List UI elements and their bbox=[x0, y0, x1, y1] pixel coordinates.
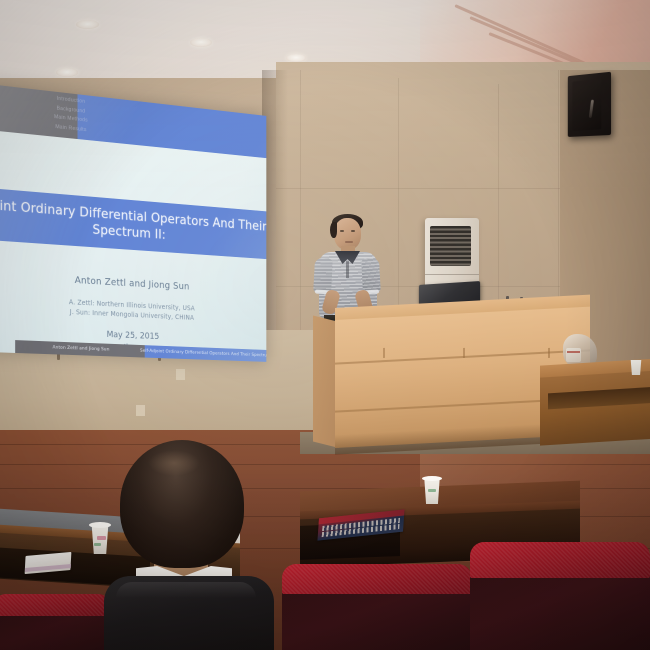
slide-title-band: djoint Ordinary Differential Operators A… bbox=[0, 187, 266, 260]
chair-right[interactable] bbox=[470, 536, 650, 650]
slide-footer-left-text: Anton Zettl and Jiong Sun bbox=[53, 345, 110, 352]
wall-speaker bbox=[568, 72, 611, 137]
wall-plate bbox=[176, 369, 185, 380]
ac-seam bbox=[425, 274, 479, 275]
slide-affiliations: A. Zettl: Northern Illinois University, … bbox=[0, 294, 266, 326]
slide-body: djoint Ordinary Differential Operators A… bbox=[0, 130, 266, 362]
podium-seam bbox=[548, 348, 550, 358]
slide-title: djoint Ordinary Differential Operators A… bbox=[0, 196, 266, 251]
speaker-face bbox=[572, 79, 601, 131]
presenter-placket bbox=[346, 261, 349, 278]
chair-left[interactable] bbox=[0, 590, 112, 650]
chair-right-trim bbox=[470, 542, 650, 578]
audience-hair-highlight bbox=[148, 450, 200, 476]
presenter-mouth bbox=[345, 241, 353, 243]
slide-footer-right-text: Self-Adjoint Ordinary Differential Opera… bbox=[140, 349, 266, 359]
wall-plate bbox=[136, 405, 145, 416]
ceiling-downlight bbox=[76, 20, 99, 29]
chair-left-trim bbox=[0, 594, 112, 616]
podium-seam bbox=[463, 348, 465, 358]
chair-center-trim bbox=[282, 564, 472, 594]
ceiling-downlight bbox=[286, 54, 306, 62]
chair-center[interactable] bbox=[282, 556, 472, 650]
ac-grille bbox=[430, 226, 471, 266]
paper-cup-center-rim bbox=[422, 476, 442, 481]
presenter-hair-side bbox=[330, 222, 337, 238]
audience-shoulder-highlight bbox=[116, 582, 256, 598]
plastic-bag-red-stripe bbox=[567, 351, 580, 353]
lecture-hall-photo: Introduction Background Main Methods Mai… bbox=[0, 0, 650, 650]
presenter-eyes bbox=[340, 230, 356, 232]
podium-seam bbox=[383, 348, 385, 358]
slide-authors: Anton Zettl and Jiong Sun bbox=[0, 270, 266, 297]
slide-nav-list: Introduction Background Main Methods Mai… bbox=[38, 93, 103, 137]
paper-cup-side-table bbox=[630, 360, 642, 375]
paper-cup-center-mark bbox=[428, 489, 436, 492]
ceiling-downlight bbox=[190, 38, 212, 47]
ceiling-downlight bbox=[56, 68, 78, 77]
projection-screen: Introduction Background Main Methods Mai… bbox=[0, 84, 298, 352]
audience-member bbox=[98, 440, 278, 650]
wall-panel-seam bbox=[276, 188, 560, 189]
